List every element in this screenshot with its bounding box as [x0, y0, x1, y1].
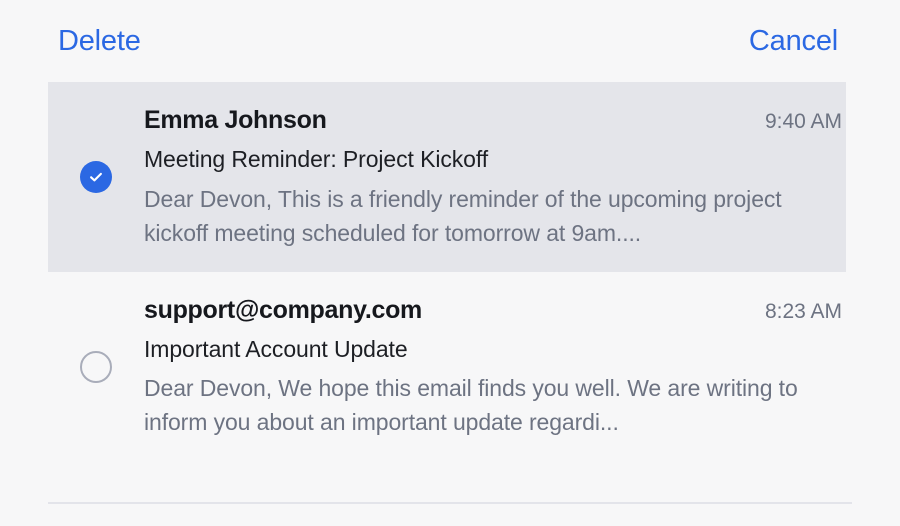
email-selection-screen: Delete Cancel Emma Johnson 9:40 AM Meeti… — [0, 0, 900, 526]
email-list: Emma Johnson 9:40 AM Meeting Reminder: P… — [0, 82, 900, 461]
email-content-0: Emma Johnson 9:40 AM Meeting Reminder: P… — [144, 104, 846, 250]
email-subject: Important Account Update — [144, 333, 842, 366]
delete-button[interactable]: Delete — [58, 27, 141, 56]
email-timestamp: 8:23 AM — [765, 299, 842, 326]
email-header-1: support@company.com 8:23 AM — [144, 294, 842, 326]
email-list-item-0[interactable]: Emma Johnson 9:40 AM Meeting Reminder: P… — [48, 82, 846, 272]
circle-outline-icon[interactable] — [80, 351, 112, 383]
select-cell-1 — [48, 294, 144, 440]
email-preview: Dear Devon, We hope this email finds you… — [144, 371, 842, 439]
email-preview: Dear Devon, This is a friendly reminder … — [144, 182, 842, 250]
email-list-item-1[interactable]: support@company.com 8:23 AM Important Ac… — [48, 272, 846, 462]
email-header-0: Emma Johnson 9:40 AM — [144, 104, 842, 136]
list-bottom-divider — [48, 502, 852, 504]
select-cell-0 — [48, 104, 144, 250]
email-sender: Emma Johnson — [144, 104, 327, 136]
email-timestamp: 9:40 AM — [765, 109, 842, 136]
selection-toolbar: Delete Cancel — [0, 0, 900, 82]
email-subject: Meeting Reminder: Project Kickoff — [144, 143, 842, 176]
email-content-1: support@company.com 8:23 AM Important Ac… — [144, 294, 846, 440]
cancel-button[interactable]: Cancel — [749, 27, 838, 56]
email-sender: support@company.com — [144, 294, 422, 326]
check-circle-filled-icon[interactable] — [80, 161, 112, 193]
